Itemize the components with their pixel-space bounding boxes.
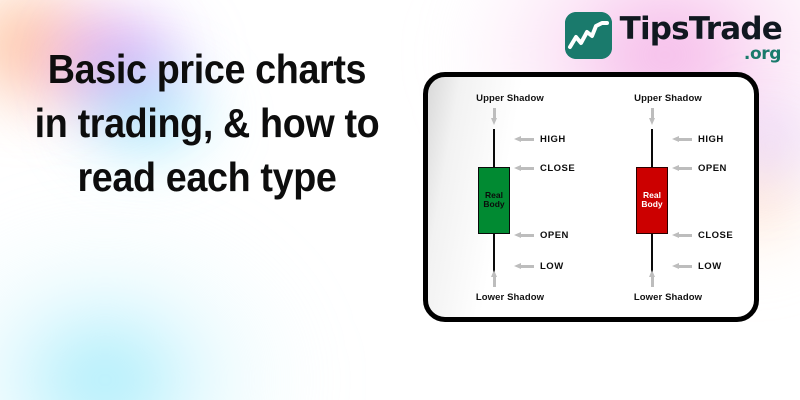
callout-close-label: CLOSE — [698, 230, 733, 241]
real-body-label-line1: Real — [485, 190, 503, 200]
lower-shadow-label: Lower Shadow — [588, 292, 748, 303]
arrow-left-icon — [672, 136, 692, 143]
real-body-label: Real Body — [479, 191, 509, 211]
arrow-down-icon — [649, 108, 656, 125]
banner: Basic price charts in trading, & how to … — [0, 0, 800, 400]
callout-high: HIGH — [514, 133, 566, 145]
callout-high: HIGH — [672, 133, 724, 145]
lower-shadow-label: Lower Shadow — [430, 292, 590, 303]
uptrend-chart-icon — [565, 12, 612, 59]
blob-bottom-left-cyan — [0, 210, 320, 400]
arrow-left-icon — [672, 165, 692, 172]
real-body-label-line2: Body — [641, 200, 662, 210]
callout-low-label: LOW — [540, 261, 564, 272]
upper-shadow-label: Upper Shadow — [430, 93, 590, 104]
arrow-up-icon — [649, 270, 656, 287]
logo-wordmark: TipsTrade .org — [620, 12, 782, 63]
callout-open-label: OPEN — [698, 163, 727, 174]
logo-tld: .org — [744, 46, 781, 63]
brand-logo[interactable]: TipsTrade .org — [565, 12, 782, 63]
callout-open: OPEN — [514, 229, 569, 241]
callout-close: CLOSE — [672, 229, 733, 241]
candlestick-diagram-panel: Upper Shadow Real Body HIGH CLOSE — [423, 72, 759, 322]
real-body: Real Body — [478, 167, 510, 234]
callout-high-label: HIGH — [540, 134, 566, 145]
bullish-candle: Upper Shadow Real Body HIGH CLOSE — [430, 77, 590, 317]
bearish-candle: Upper Shadow Real Body HIGH OPEN — [588, 77, 748, 317]
real-body-label-line1: Real — [643, 190, 661, 200]
arrow-left-icon — [514, 165, 534, 172]
callout-low: LOW — [514, 260, 564, 272]
arrow-left-icon — [514, 263, 534, 270]
real-body: Real Body — [636, 167, 668, 234]
callout-close: CLOSE — [514, 162, 575, 174]
callout-high-label: HIGH — [698, 134, 724, 145]
callout-open: OPEN — [672, 162, 727, 174]
arrow-down-icon — [491, 108, 498, 125]
arrow-left-icon — [672, 232, 692, 239]
logo-word: TipsTrade — [620, 14, 782, 45]
upper-shadow-label: Upper Shadow — [588, 93, 748, 104]
arrow-left-icon — [672, 263, 692, 270]
callout-low: LOW — [672, 260, 722, 272]
arrow-left-icon — [514, 136, 534, 143]
callout-open-label: OPEN — [540, 230, 569, 241]
page-title: Basic price charts in trading, & how to … — [33, 42, 381, 204]
arrow-left-icon — [514, 232, 534, 239]
callout-close-label: CLOSE — [540, 163, 575, 174]
real-body-label: Real Body — [637, 191, 667, 211]
callout-low-label: LOW — [698, 261, 722, 272]
real-body-label-line2: Body — [483, 200, 504, 210]
arrow-up-icon — [491, 270, 498, 287]
